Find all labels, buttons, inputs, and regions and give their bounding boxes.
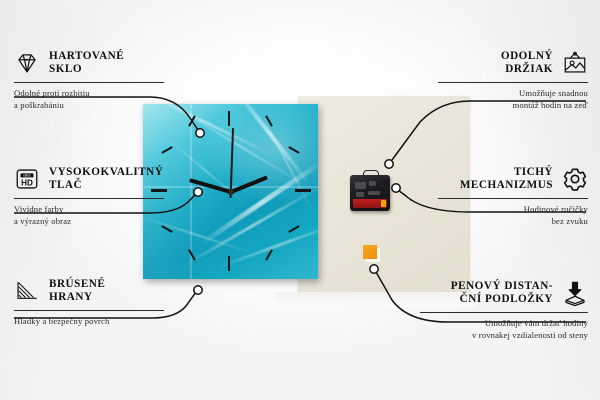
feature-desc-line-1: Hladký a bezpečný povrch: [14, 316, 164, 328]
feature-desc-line-1: Umožňuje snadnou: [438, 88, 588, 100]
feature-high-quality-print[interactable]: ultra HD VYSOKOKVALITNÝ TLAČ Vivídne far…: [14, 166, 164, 227]
clock-face: [143, 104, 318, 279]
feature-desc-line-2: a výrazný obraz: [14, 216, 164, 228]
feature-desc-line-1: Umožňuje vám držať hodiny: [420, 318, 588, 330]
feature-title: ODOLNÝ DRŽIAK: [501, 50, 553, 76]
feature-desc-line-2: a poškrabániu: [14, 100, 164, 112]
feature-title: PENOVÝ DISTAN- ČNÍ PODLOŽKY: [451, 280, 553, 306]
aa-battery: [353, 199, 387, 208]
diamond-icon: [14, 50, 40, 76]
product-photo: [125, 92, 470, 307]
feature-title: BRÚSENÉ HRANY: [49, 278, 105, 304]
divider: [14, 198, 164, 199]
feature-desc-line-2: v rovnakej vzdialenosti od steny: [420, 330, 588, 342]
divider: [420, 312, 588, 313]
feature-header: ODOLNÝ DRŽIAK: [438, 50, 588, 76]
feature-desc-line-1: Odolné proti rozbitiu: [14, 88, 164, 100]
feature-silent-mechanism[interactable]: TICHÝ MECHANIZMUS Hodinové ručičky bez z…: [438, 166, 588, 227]
divider: [438, 198, 588, 199]
clock-tick-4: [288, 225, 299, 233]
feature-header: ultra HD VYSOKOKVALITNÝ TLAČ: [14, 166, 164, 192]
foam-distance-pad: [363, 245, 377, 259]
feature-desc-line-1: Hodinové ručičky: [438, 204, 588, 216]
feature-title: HARTOVANÉ SKLO: [49, 50, 124, 76]
feature-header: BRÚSENÉ HRANY: [14, 278, 164, 304]
picture-hanger-icon: [562, 50, 588, 76]
mechanism-hanger: [363, 170, 379, 178]
infographic-canvas: HARTOVANÉ SKLO Odolné proti rozbitiu a p…: [0, 0, 600, 400]
feature-title: TICHÝ MECHANIZMUS: [460, 166, 553, 192]
clock-tick-3: [295, 189, 311, 192]
feature-header: PENOVÝ DISTAN- ČNÍ PODLOŽKY: [420, 280, 588, 306]
feature-header: HARTOVANÉ SKLO: [14, 50, 164, 76]
divider: [14, 310, 164, 311]
svg-text:ultra: ultra: [24, 174, 31, 178]
feature-desc-line-2: montáž hodin na zeď: [438, 100, 588, 112]
feature-title: VYSOKOKVALITNÝ TLAČ: [49, 166, 163, 192]
divider: [14, 82, 164, 83]
ultra-hd-icon: ultra HD: [14, 166, 40, 192]
clock-tick-2: [288, 146, 299, 154]
clock-tick-6: [228, 256, 230, 271]
brushed-edge-icon: [14, 278, 40, 304]
feature-header: TICHÝ MECHANIZMUS: [438, 166, 588, 192]
feature-tempered-glass[interactable]: HARTOVANÉ SKLO Odolné proti rozbitiu a p…: [14, 50, 164, 111]
feature-desc-line-1: Vivídne farby: [14, 204, 164, 216]
foam-pad-arrow-icon: [562, 280, 588, 306]
feature-brushed-edges[interactable]: BRÚSENÉ HRANY Hladký a bezpečný povrch: [14, 278, 164, 328]
feature-desc-line-2: bez zvuku: [438, 216, 588, 228]
feature-foam-spacer-pads[interactable]: PENOVÝ DISTAN- ČNÍ PODLOŽKY Umožňuje vám…: [420, 280, 588, 341]
svg-text:HD: HD: [21, 179, 33, 188]
feature-durable-hanger[interactable]: ODOLNÝ DRŽIAK Umožňuje snadnou montáž ho…: [438, 50, 588, 111]
divider: [438, 82, 588, 83]
quartz-clock-mechanism: [350, 175, 390, 211]
clock-center-pin: [228, 189, 233, 194]
clock-tick-12: [228, 111, 230, 126]
gear-icon: [562, 166, 588, 192]
